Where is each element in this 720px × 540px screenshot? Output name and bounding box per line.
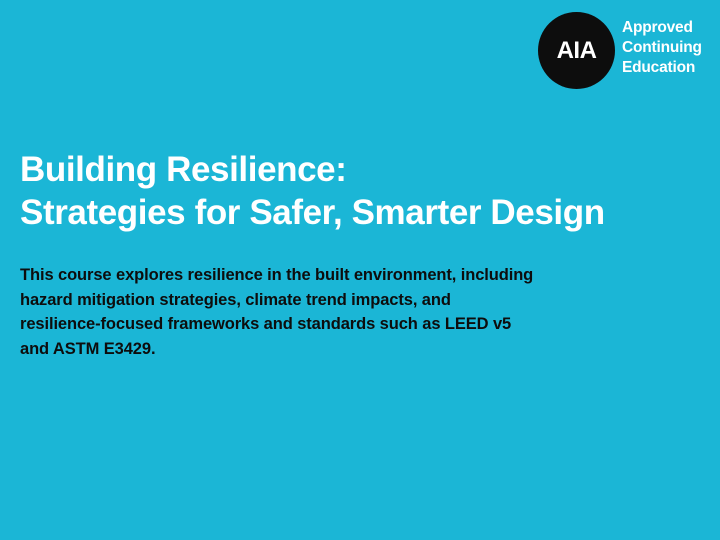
- aia-badge-caption-line2: Continuing: [622, 38, 702, 58]
- aia-approved-ce-badge: AIA Approved Continuing Education: [538, 12, 720, 92]
- aia-badge-caption: Approved Continuing Education: [622, 18, 702, 78]
- course-description: This course explores resilience in the b…: [20, 263, 630, 361]
- course-description-line4: and ASTM E3429.: [20, 337, 630, 362]
- course-title: Building Resilience: Strategies for Safe…: [20, 148, 680, 234]
- course-promo-card: AIA Approved Continuing Education Buildi…: [0, 0, 720, 540]
- aia-badge-caption-line1: Approved: [622, 18, 702, 38]
- course-description-line1: This course explores resilience in the b…: [20, 263, 630, 288]
- course-description-line3: resilience-focused frameworks and standa…: [20, 312, 630, 337]
- aia-badge-caption-line3: Education: [622, 58, 702, 78]
- course-title-line2: Strategies for Safer, Smarter Design: [20, 191, 680, 234]
- course-footer: On-Demand 1 Health, Safety, and Welfare …: [0, 428, 720, 540]
- course-description-line2: hazard mitigation strategies, climate tr…: [20, 288, 630, 313]
- course-title-line1: Building Resilience:: [20, 148, 680, 191]
- aia-logo-text: AIA: [538, 12, 615, 89]
